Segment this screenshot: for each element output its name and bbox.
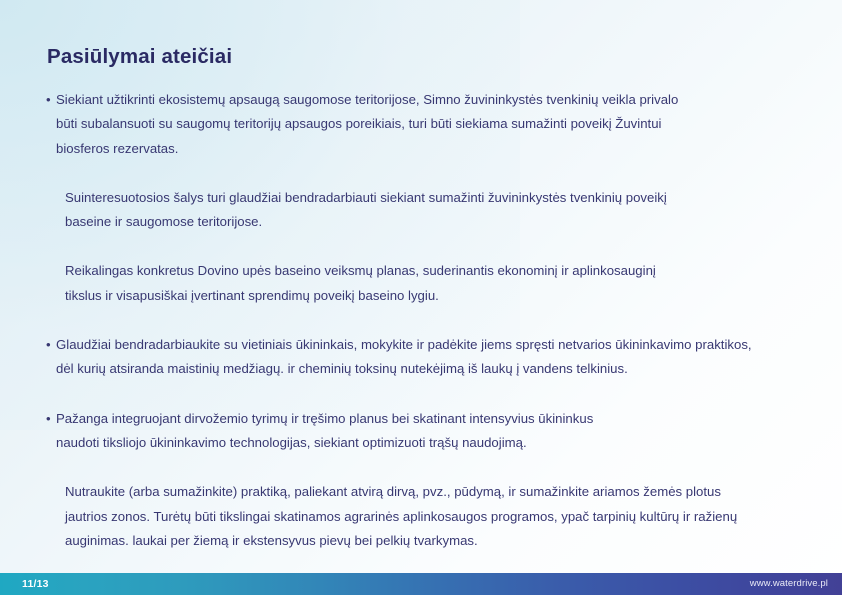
bullet-paragraph: Reikalingas konkretus Dovino upės basein… bbox=[46, 259, 816, 308]
paragraph-line: naudoti tiksliojo ūkininkavimo technolog… bbox=[56, 431, 816, 455]
paragraph-line: tikslus ir visapusiškai įvertinant spren… bbox=[56, 284, 816, 308]
bullet-paragraph: Suinteresuotosios šalys turi glaudžiai b… bbox=[46, 186, 816, 235]
paragraph-text: Glaudžiai bendradarbiaukite su vietiniai… bbox=[56, 333, 816, 382]
page-number: 11/13 bbox=[22, 573, 49, 595]
bullet-point-icon: • bbox=[46, 333, 51, 357]
bullet-point-icon: • bbox=[46, 407, 51, 431]
bullet-list: •Siekiant užtikrinti ekosistemų apsaugą … bbox=[46, 88, 816, 553]
paragraph-line: dėl kurių atsiranda maistinių medžiagų. … bbox=[56, 357, 816, 381]
bullet-paragraph: Nutraukite (arba sumažinkite) praktiką, … bbox=[46, 480, 816, 553]
paragraph-text: Reikalingas konkretus Dovino upės basein… bbox=[56, 259, 816, 308]
paragraph-line: Reikalingas konkretus Dovino upės basein… bbox=[56, 259, 816, 283]
bullet-paragraph: •Siekiant užtikrinti ekosistemų apsaugą … bbox=[46, 88, 816, 161]
slide-footer: 11/13 www.waterdrive.pl bbox=[0, 573, 842, 595]
paragraph-line: Nutraukite (arba sumažinkite) praktiką, … bbox=[56, 480, 816, 504]
paragraph-line: auginimas. laukai per žiemą ir ekstensyv… bbox=[56, 529, 816, 553]
page-title: Pasiūlymai ateičiai bbox=[47, 45, 232, 69]
paragraph-line: baseine ir saugomose teritorijose. bbox=[56, 210, 816, 234]
paragraph-line: Siekiant užtikrinti ekosistemų apsaugą s… bbox=[56, 88, 816, 112]
paragraph-line: jautrios zonos. Turėtų būti tikslingai s… bbox=[56, 505, 816, 529]
bullet-point-icon: • bbox=[46, 88, 51, 112]
paragraph-text: Siekiant užtikrinti ekosistemų apsaugą s… bbox=[56, 88, 816, 161]
paragraph-line: biosferos rezervatas. bbox=[56, 137, 816, 161]
bullet-paragraph: •Glaudžiai bendradarbiaukite su vietinia… bbox=[46, 333, 816, 382]
paragraph-line: būti subalansuoti su saugomų teritorijų … bbox=[56, 112, 816, 136]
paragraph-text: Nutraukite (arba sumažinkite) praktiką, … bbox=[56, 480, 816, 553]
paragraph-line: Suinteresuotosios šalys turi glaudžiai b… bbox=[56, 186, 816, 210]
paragraph-line: Glaudžiai bendradarbiaukite su vietiniai… bbox=[56, 333, 816, 357]
footer-website-url: www.waterdrive.pl bbox=[750, 573, 828, 595]
presentation-slide: Pasiūlymai ateičiai •Siekiant užtikrinti… bbox=[0, 0, 842, 595]
paragraph-text: Suinteresuotosios šalys turi glaudžiai b… bbox=[56, 186, 816, 235]
bullet-paragraph: •Pažanga integruojant dirvožemio tyrimų … bbox=[46, 407, 816, 456]
paragraph-text: Pažanga integruojant dirvožemio tyrimų i… bbox=[56, 407, 816, 456]
paragraph-line: Pažanga integruojant dirvožemio tyrimų i… bbox=[56, 407, 816, 431]
